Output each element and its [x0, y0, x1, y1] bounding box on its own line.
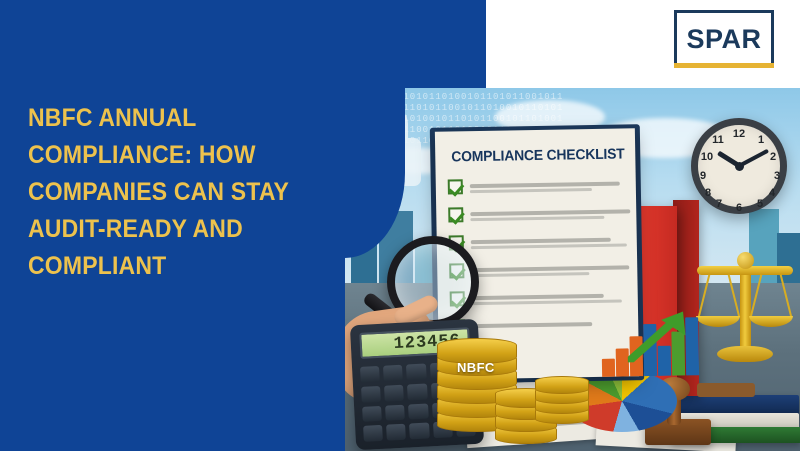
- stamp-pad: [697, 383, 755, 397]
- coin-shape: [535, 376, 589, 394]
- logo-text: SPAR: [674, 10, 774, 68]
- growth-arrow-icon: [627, 309, 698, 362]
- scales-base: [717, 346, 773, 362]
- clock-number: 8: [701, 187, 715, 199]
- coin-label: NBFC: [457, 360, 495, 375]
- calculator-key[interactable]: [384, 384, 404, 401]
- clock-number: 10: [700, 151, 714, 163]
- scales-wire: [750, 274, 762, 317]
- checklist-line: [470, 188, 592, 193]
- scales-wire: [698, 274, 710, 317]
- checkbox-checked-icon: [448, 179, 463, 194]
- clock-number: 1: [754, 134, 768, 146]
- scales-knob: [737, 252, 754, 269]
- clock-number: 6: [732, 202, 746, 214]
- clock-number: 11: [711, 134, 725, 146]
- checklist-line: [470, 209, 630, 215]
- page-title: NBFC ANNUAL COMPLIANCE: HOW COMPANIES CA…: [28, 100, 304, 285]
- calculator-key[interactable]: [386, 424, 406, 441]
- clock-number: 3: [770, 170, 784, 182]
- clock-number: 9: [696, 170, 710, 182]
- checkbox-checked-icon: [448, 207, 463, 222]
- checklist-line: [472, 322, 592, 328]
- book-shape: [671, 395, 799, 415]
- checklist-title: COMPLIANCE CHECKLIST: [451, 147, 619, 166]
- calculator-key[interactable]: [406, 364, 426, 381]
- clock-number: 4: [765, 187, 779, 199]
- checklist-line: [470, 182, 620, 188]
- illustration-image: 1011001010110100101101011001011010010110…: [345, 88, 800, 451]
- checklist-line: [471, 265, 629, 271]
- checklist-line: [472, 294, 604, 300]
- chart-bar: [602, 359, 615, 377]
- scales-wire: [780, 274, 792, 317]
- checklist-line: [471, 272, 589, 277]
- calculator-key[interactable]: [409, 423, 429, 440]
- article-banner: SPAR NBFC ANNUAL COMPLIANCE: HOW COMPANI…: [0, 0, 800, 451]
- calculator-key[interactable]: [408, 403, 428, 420]
- clock-number: 2: [766, 151, 780, 163]
- wall-clock: 12 1 2 3 4 5 6 7 8 9 10 11: [691, 118, 787, 214]
- calculator-key[interactable]: [360, 366, 380, 383]
- scales-wire: [728, 274, 740, 317]
- checklist-line: [471, 243, 627, 249]
- clock-center-pin: [735, 162, 744, 171]
- growth-bar-chart: [601, 313, 698, 377]
- clock-number: 5: [753, 198, 767, 210]
- clock-number: 12: [732, 128, 746, 140]
- calculator-key[interactable]: [407, 383, 427, 400]
- checklist-line: [470, 216, 604, 221]
- scales-plate-left: [696, 316, 740, 327]
- calculator-key[interactable]: [362, 405, 382, 422]
- checklist-line: [471, 238, 611, 244]
- clock-number: 7: [712, 198, 726, 210]
- coin-stack-right: [535, 376, 589, 426]
- calculator-key[interactable]: [383, 365, 403, 382]
- calculator-key[interactable]: [385, 404, 405, 421]
- spar-logo[interactable]: SPAR: [674, 10, 774, 68]
- scales-of-justice: [693, 240, 797, 370]
- scales-plate-right: [749, 316, 793, 327]
- checklist-line: [472, 300, 622, 306]
- calculator-key[interactable]: [361, 386, 381, 403]
- calculator-key[interactable]: [363, 425, 383, 442]
